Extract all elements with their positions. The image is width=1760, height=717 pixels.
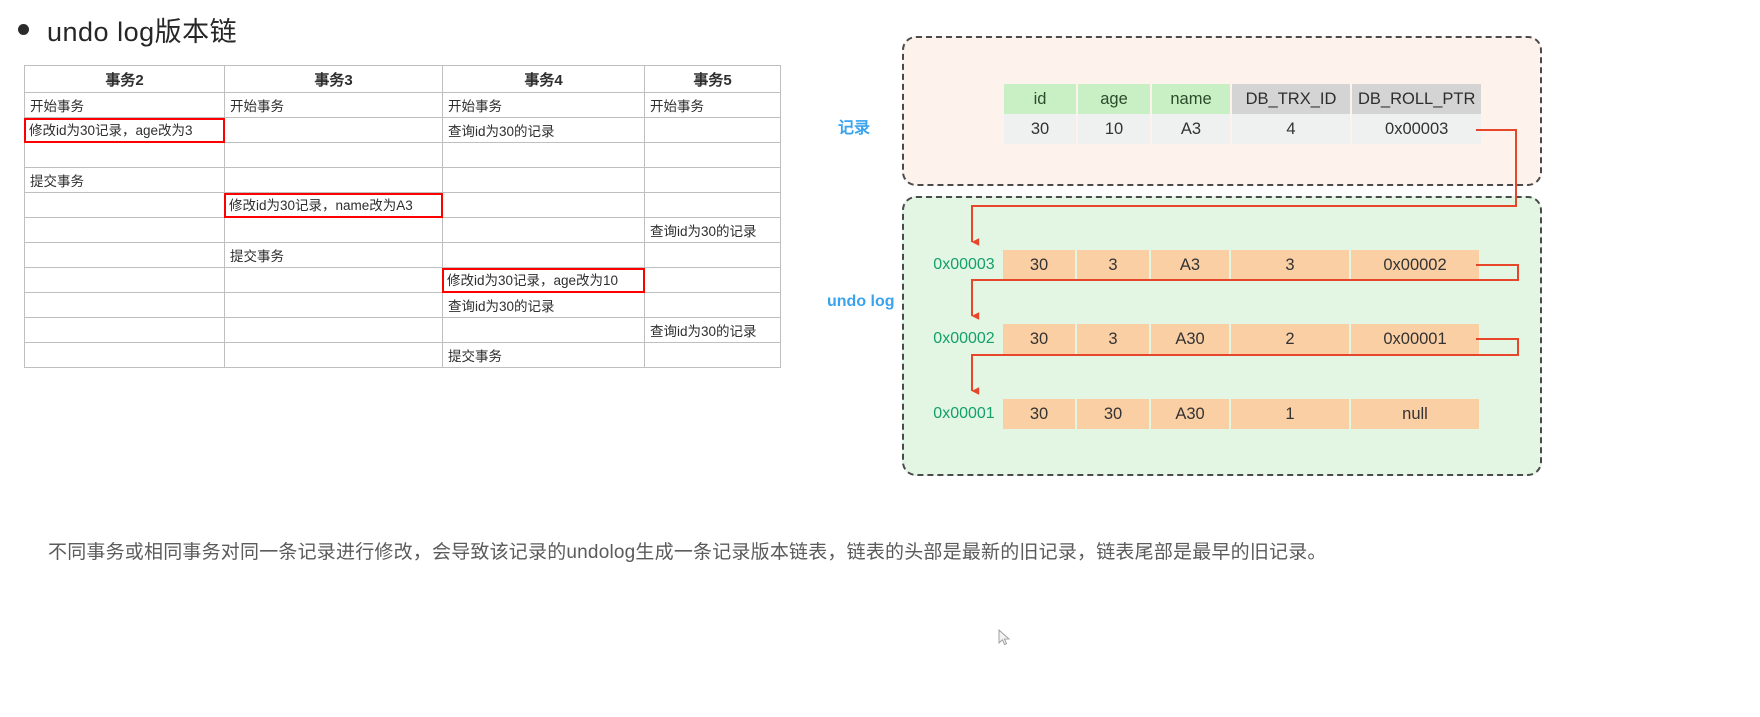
- table-cell: [443, 193, 645, 218]
- table-cell: 提交事务: [443, 343, 645, 368]
- table-row: 修改id为30记录，age改为3查询id为30的记录: [25, 118, 781, 143]
- undo-log-row: 0x00001 30 30 A30 1 null: [925, 399, 1479, 429]
- table-row: 修改id为30记录，name改为A3: [25, 193, 781, 218]
- table-cell: [225, 218, 443, 243]
- table-cell: [645, 343, 781, 368]
- table-cell-label: 提交事务: [229, 245, 285, 265]
- table-cell-label: 查询id为30的记录: [649, 220, 758, 240]
- record-col-age: age: [1078, 84, 1150, 114]
- table-cell: 提交事务: [25, 168, 225, 193]
- table-row: 查询id为30的记录: [25, 218, 781, 243]
- table-cell: [443, 218, 645, 243]
- highlighted-table-cell: 修改id为30记录，name改为A3: [225, 193, 443, 218]
- table-cell: [443, 243, 645, 268]
- table-cell: 查询id为30的记录: [645, 318, 781, 343]
- table-header-row: 事务2 事务3 事务4 事务5: [25, 66, 781, 93]
- undo-cell-db-trx-id: 3: [1231, 250, 1349, 280]
- explanatory-paragraph: 不同事务或相同事务对同一条记录进行修改，会导致该记录的undolog生成一条记录…: [48, 528, 1548, 578]
- table-row: 修改id为30记录，age改为10: [25, 268, 781, 293]
- table-cell: 开始事务: [25, 93, 225, 118]
- undo-log-version-chain-diagram: 记录 undo log id age name DB_TRX_ID DB_ROL…: [830, 28, 1550, 478]
- undo-cell-id: 30: [1003, 399, 1075, 429]
- record-value-db-trx-id: 4: [1232, 114, 1350, 144]
- undo-log-row: 0x00002 30 3 A30 2 0x00001: [925, 324, 1479, 354]
- column-header-txn4: 事务4: [443, 66, 645, 93]
- record-value-id: 30: [1004, 114, 1076, 144]
- mouse-pointer-icon: [998, 629, 1012, 647]
- highlighted-table-cell: 修改id为30记录，age改为3: [25, 118, 225, 143]
- table-row: 提交事务: [25, 343, 781, 368]
- table-cell-label: 开始事务: [29, 95, 85, 115]
- undo-log-row: 0x00003 30 3 A3 3 0x00002: [925, 250, 1479, 280]
- undo-cell-db-roll-ptr: null: [1351, 399, 1479, 429]
- undo-cell-id: 30: [1003, 324, 1075, 354]
- table-cell: [25, 268, 225, 293]
- undo-cell-name: A30: [1151, 324, 1229, 354]
- undo-cell-age: 3: [1077, 324, 1149, 354]
- bullet-dot-icon: [18, 24, 29, 35]
- column-header-txn2: 事务2: [25, 66, 225, 93]
- page-title: undo log版本链: [47, 10, 237, 49]
- record-col-db-roll-ptr: DB_ROLL_PTR: [1352, 84, 1481, 114]
- record-col-id: id: [1004, 84, 1076, 114]
- table-cell: [225, 143, 443, 168]
- table-cell-label: 修改id为30记录，age改为3: [24, 118, 225, 143]
- table-cell-label: 开始事务: [649, 95, 705, 115]
- table-cell: [645, 118, 781, 143]
- column-header-txn3: 事务3: [225, 66, 443, 93]
- table-cell: 开始事务: [225, 93, 443, 118]
- table-cell-label: 查询id为30的记录: [649, 320, 758, 340]
- table-row: 提交事务: [25, 243, 781, 268]
- undo-cell-age: 3: [1077, 250, 1149, 280]
- table-cell-label: 提交事务: [29, 170, 85, 190]
- table-cell: [25, 293, 225, 318]
- table-cell: [443, 143, 645, 168]
- table-row: 查询id为30的记录: [25, 293, 781, 318]
- record-value-age: 10: [1078, 114, 1150, 144]
- undo-row-address: 0x00001: [925, 405, 1003, 423]
- undo-cell-name: A3: [1151, 250, 1229, 280]
- table-cell: [225, 293, 443, 318]
- highlighted-table-cell: 修改id为30记录，age改为10: [443, 268, 645, 293]
- undo-cell-db-trx-id: 1: [1231, 399, 1349, 429]
- table-cell-label: 查询id为30的记录: [447, 120, 556, 140]
- table-cell: 提交事务: [225, 243, 443, 268]
- table-cell: [645, 243, 781, 268]
- table-cell-label: 修改id为30记录，age改为10: [442, 268, 645, 293]
- table-cell: [443, 168, 645, 193]
- undo-cell-name: A30: [1151, 399, 1229, 429]
- undo-cell-db-roll-ptr: 0x00001: [1351, 324, 1479, 354]
- table-cell: [25, 343, 225, 368]
- record-header-row: id age name DB_TRX_ID DB_ROLL_PTR: [1004, 84, 1481, 114]
- record-col-name: name: [1152, 84, 1230, 114]
- record-col-db-trx-id: DB_TRX_ID: [1232, 84, 1350, 114]
- table-cell: [645, 268, 781, 293]
- table-cell: [645, 168, 781, 193]
- record-region-label: 记录: [838, 114, 870, 138]
- table-cell: [645, 293, 781, 318]
- undo-cell-id: 30: [1003, 250, 1075, 280]
- table-cell: [225, 268, 443, 293]
- table-cell: 开始事务: [443, 93, 645, 118]
- record-value-name: A3: [1152, 114, 1230, 144]
- table-cell: [25, 243, 225, 268]
- record-value-row: 30 10 A3 4 0x00003: [1004, 114, 1481, 144]
- table-cell: [645, 143, 781, 168]
- table-cell: [225, 318, 443, 343]
- table-cell: 查询id为30的记录: [443, 293, 645, 318]
- table-cell-label: 查询id为30的记录: [447, 295, 556, 315]
- table-cell: [225, 168, 443, 193]
- table-cell: 开始事务: [645, 93, 781, 118]
- transaction-timeline-table: 事务2 事务3 事务4 事务5 开始事务开始事务开始事务开始事务修改id为30记…: [24, 65, 781, 368]
- table-cell-label: 开始事务: [447, 95, 503, 115]
- table-cell-label: 开始事务: [229, 95, 285, 115]
- table-cell: [25, 193, 225, 218]
- undo-row-address: 0x00003: [925, 256, 1003, 274]
- table-cell: 查询id为30的记录: [443, 118, 645, 143]
- table-row: 提交事务: [25, 168, 781, 193]
- undo-cell-age: 30: [1077, 399, 1149, 429]
- record-value-db-roll-ptr: 0x00003: [1352, 114, 1481, 144]
- table-row: 查询id为30的记录: [25, 318, 781, 343]
- table-cell: [225, 118, 443, 143]
- table-cell: [443, 318, 645, 343]
- table-cell: [225, 343, 443, 368]
- undolog-region-label: undo log: [827, 293, 895, 311]
- table-cell-label: 修改id为30记录，name改为A3: [224, 193, 443, 218]
- undo-row-address: 0x00002: [925, 330, 1003, 348]
- table-cell: [25, 318, 225, 343]
- table-cell: [25, 218, 225, 243]
- undo-cell-db-roll-ptr: 0x00002: [1351, 250, 1479, 280]
- table-cell: 查询id为30的记录: [645, 218, 781, 243]
- table-row: [25, 143, 781, 168]
- slide-heading: undo log版本链: [18, 10, 237, 49]
- table-body: 开始事务开始事务开始事务开始事务修改id为30记录，age改为3查询id为30的…: [25, 93, 781, 368]
- table-cell-label: 提交事务: [447, 345, 503, 365]
- undo-cell-db-trx-id: 2: [1231, 324, 1349, 354]
- column-header-txn5: 事务5: [645, 66, 781, 93]
- table-row: 开始事务开始事务开始事务开始事务: [25, 93, 781, 118]
- record-table: id age name DB_TRX_ID DB_ROLL_PTR 30 10 …: [1002, 84, 1483, 144]
- table-cell: [25, 143, 225, 168]
- table-cell: [645, 193, 781, 218]
